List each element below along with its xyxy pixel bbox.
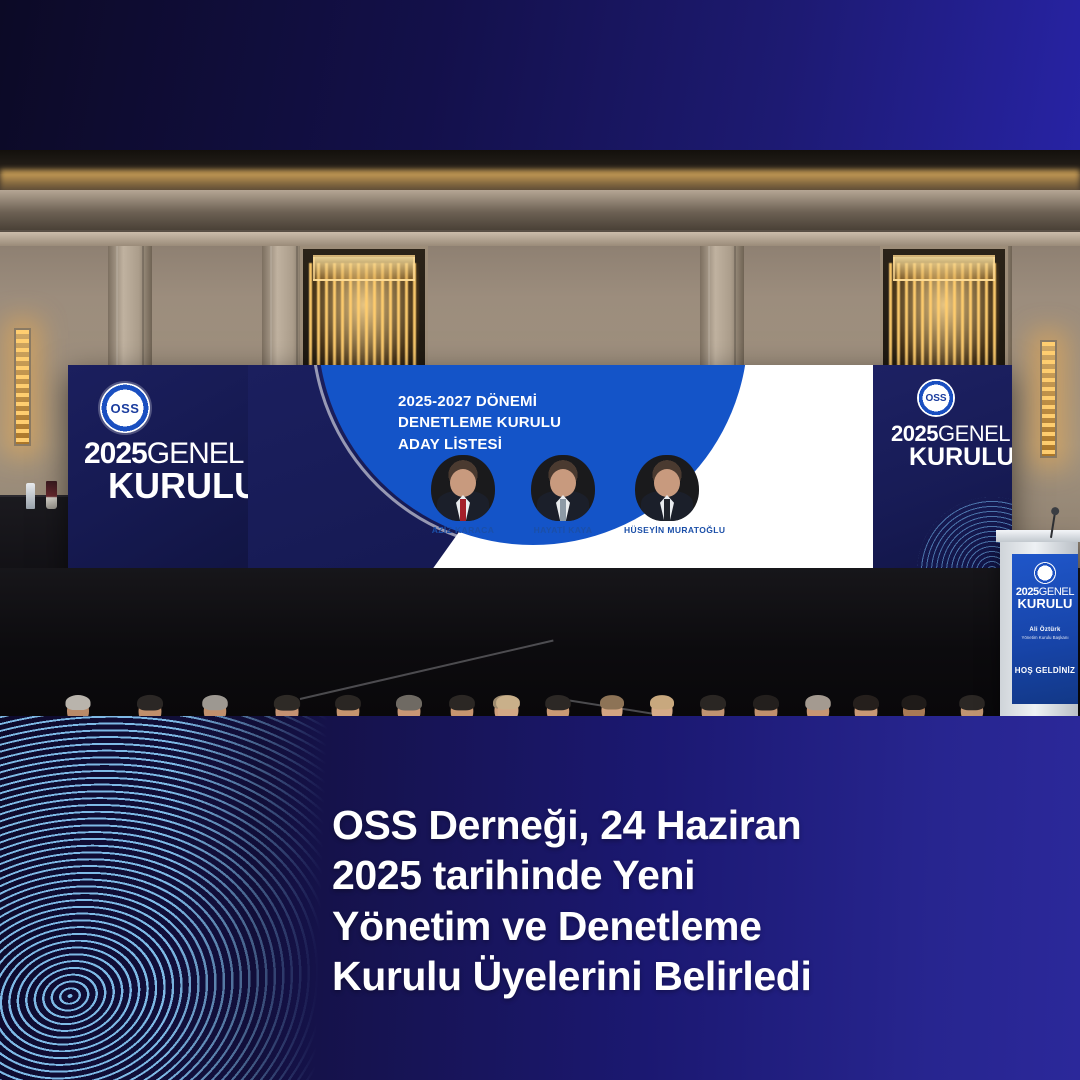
chandelier-frame bbox=[313, 255, 415, 281]
person-hair bbox=[753, 695, 779, 711]
oss-logo-icon bbox=[1034, 562, 1056, 584]
podium-kurulu: KURULU bbox=[1012, 596, 1078, 611]
oss-logo-text: OSS bbox=[925, 393, 946, 404]
backdrop-title-line-1: 2025-2027 DÖNEMİ bbox=[398, 391, 561, 412]
person-hair bbox=[66, 695, 91, 710]
wall-sconce-icon bbox=[14, 328, 31, 446]
person-hair bbox=[600, 695, 624, 709]
cornice-molding-lower bbox=[0, 232, 1080, 246]
wall-sconce-icon bbox=[1040, 340, 1057, 458]
oss-logo-icon: OSS bbox=[100, 383, 150, 433]
cornice-molding bbox=[0, 190, 1080, 232]
headline-line-3: Yönetim ve Denetleme bbox=[332, 901, 1032, 951]
backdrop-title-line-2: DENETLEME KURULU bbox=[398, 412, 561, 433]
event-photograph: OSS 2025GENEL KURULU 2025-2027 DÖNEMİ DE… bbox=[0, 150, 1080, 718]
speaker-podium: 2025GENEL KURULU Ali Öztürk Yönetim Kuru… bbox=[1000, 538, 1078, 718]
top-gradient-band bbox=[0, 0, 1080, 152]
podium-welcome-text: HOŞ GELDİNİZ bbox=[1012, 666, 1078, 675]
group-photo-people bbox=[0, 480, 1080, 718]
headline-line-4: Kurulu Üyelerini Belirledi bbox=[332, 951, 1032, 1001]
person-hair bbox=[496, 695, 520, 709]
oss-logo-icon: OSS bbox=[917, 379, 955, 417]
post-headline: OSS Derneği, 24 Haziran 2025 tarihinde Y… bbox=[332, 800, 1032, 1002]
backdrop-kurulu: KURULU bbox=[909, 443, 1012, 472]
person-hair bbox=[902, 695, 927, 710]
social-post-canvas: OSS 2025GENEL KURULU 2025-2027 DÖNEMİ DE… bbox=[0, 0, 1080, 1080]
oss-logo-text: OSS bbox=[111, 401, 140, 416]
bottom-caption-band: OSS Derneği, 24 Haziran 2025 tarihinde Y… bbox=[0, 716, 1080, 1080]
podium-screen: 2025GENEL KURULU Ali Öztürk Yönetim Kuru… bbox=[1012, 554, 1078, 704]
podium-speaker-role: Yönetim Kurulu Başkanı bbox=[1012, 635, 1078, 640]
person-hair bbox=[202, 695, 228, 710]
person-hair bbox=[545, 695, 571, 710]
backdrop-title-line-3: ADAY LİSTESİ bbox=[398, 434, 561, 455]
headline-line-1: OSS Derneği, 24 Haziran bbox=[332, 800, 1032, 850]
person-hair bbox=[449, 695, 475, 710]
person-hair bbox=[805, 695, 831, 710]
person-hair bbox=[853, 695, 879, 711]
person-hair bbox=[396, 695, 422, 711]
person-hair bbox=[274, 695, 300, 711]
person-hair bbox=[335, 695, 361, 710]
person-hair bbox=[700, 695, 726, 711]
cove-light bbox=[0, 170, 1080, 192]
person-hair bbox=[650, 695, 674, 709]
headline-line-2: 2025 tarihinde Yeni bbox=[332, 850, 1032, 900]
backdrop-title: 2025-2027 DÖNEMİ DENETLEME KURULU ADAY L… bbox=[398, 391, 561, 455]
person-hair bbox=[959, 695, 985, 710]
chandelier-frame bbox=[893, 255, 995, 281]
podium-speaker-name: Ali Öztürk bbox=[1012, 627, 1078, 633]
person-hair bbox=[137, 695, 163, 711]
podium-top bbox=[996, 530, 1080, 542]
